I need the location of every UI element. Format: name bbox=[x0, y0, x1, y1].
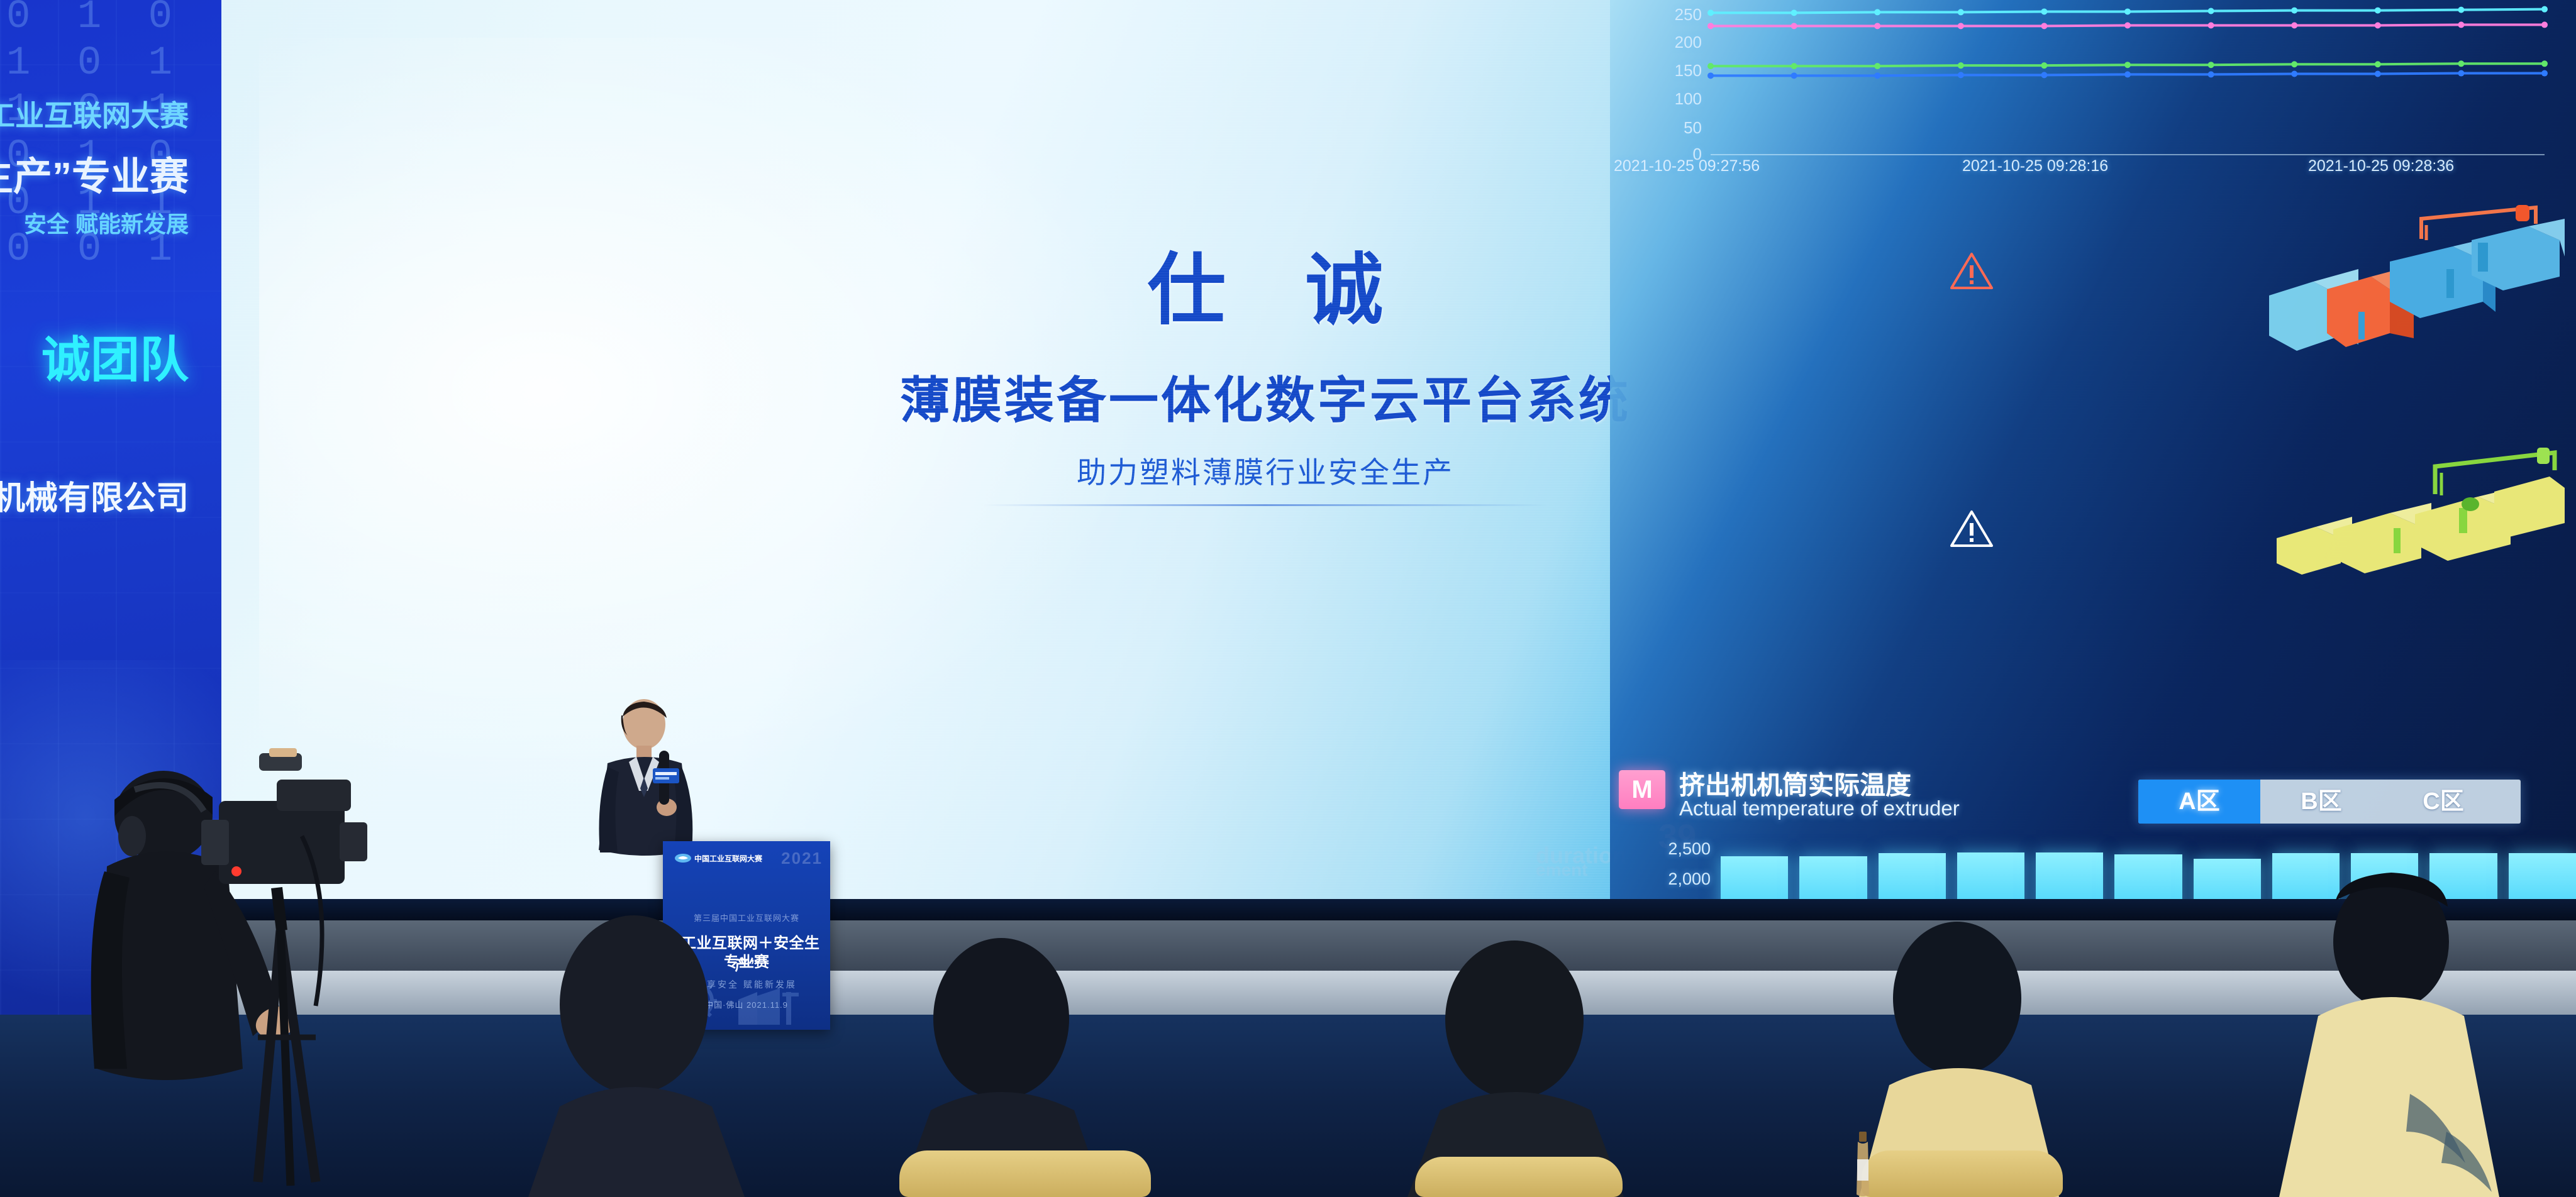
slide-subtitle: 助力塑料薄膜行业安全生产 bbox=[775, 448, 1756, 492]
slide-title-block: 仕 诚 薄膜装备一体化数字云平台系统 助力塑料薄膜行业安全生产 bbox=[775, 251, 1756, 506]
y-tick: 2,000 bbox=[1623, 869, 1711, 889]
slide-underline bbox=[982, 504, 1548, 506]
line-chart-x-axis: 2021-10-25 09:27:56 2021-10-25 09:28:16 … bbox=[1610, 157, 2576, 189]
zone-tab-group[interactable]: A区 B区 C区 bbox=[2138, 780, 2521, 824]
svg-text:中国工业互联网大赛: 中国工业互联网大赛 bbox=[694, 854, 763, 863]
zone-tab-overflow[interactable] bbox=[2504, 780, 2521, 824]
camera-operator bbox=[69, 742, 371, 1197]
backdrop-line-team: 诚团队 bbox=[0, 321, 189, 391]
floor bbox=[0, 1015, 2576, 1197]
extruder-title-en: Actual temperature of extruder bbox=[1679, 797, 1960, 820]
slide-main-title: 薄膜装备一体化数字云平台系统 bbox=[775, 360, 1756, 432]
slide-brand-name: 仕 诚 bbox=[775, 251, 1756, 329]
backdrop-line-company: 塑料机械有限公司 bbox=[0, 472, 189, 519]
warning-triangle-icon bbox=[1950, 251, 1994, 290]
x-tick: 2021-10-25 09:28:16 bbox=[1962, 157, 2108, 175]
rollup-year: 2021 bbox=[781, 849, 823, 868]
y-tick: 2,500 bbox=[1623, 839, 1711, 859]
extruder-3d-model-top bbox=[2264, 201, 2566, 365]
y-tick: 200 bbox=[1633, 33, 1702, 52]
chair bbox=[899, 1150, 1151, 1197]
y-tick: 250 bbox=[1633, 5, 1702, 25]
extruder-3d-model-bottom bbox=[2270, 434, 2566, 578]
line-chart-y-axis: 250 200 150 100 50 0 bbox=[1633, 0, 1702, 163]
chair bbox=[1415, 1157, 1623, 1197]
zone-tab-a[interactable]: A区 bbox=[2138, 780, 2260, 824]
metric-badge: M bbox=[1619, 770, 1665, 809]
water-bottle bbox=[1852, 1132, 1874, 1197]
line-chart-plot bbox=[1704, 0, 2557, 157]
extruder-title-cn: 挤出机机筒实际温度 bbox=[1679, 764, 1911, 802]
y-tick: 150 bbox=[1633, 61, 1702, 80]
audience-member bbox=[2258, 868, 2522, 1197]
ghost-label-ement: ement bbox=[1536, 860, 1587, 880]
y-tick: 50 bbox=[1633, 118, 1702, 138]
backdrop-line-category: ＋安全生产”专业赛 bbox=[0, 145, 189, 201]
audience-member bbox=[509, 899, 774, 1197]
extruder-temperature-header: M 挤出机机筒实际温度 Actual temperature of extrud… bbox=[1619, 764, 2185, 827]
zone-tab-c[interactable]: C区 bbox=[2382, 780, 2504, 824]
contest-logo-icon: 中国工业互联网大赛 bbox=[674, 851, 787, 865]
y-tick: 100 bbox=[1633, 89, 1702, 109]
x-tick: 2021-10-25 09:28:36 bbox=[2308, 157, 2454, 175]
warning-triangle-icon bbox=[1950, 509, 1994, 548]
backdrop-line-slogan: 安全 赋能新发展 bbox=[0, 206, 189, 239]
conference-scene: 0 1 0 1 0 1 1 0 1 0 1 0 0 1 1 0 0 1 中国工业… bbox=[0, 0, 2576, 1197]
line-chart: 250 200 150 100 50 0 2021-10-25 09:27:56… bbox=[1610, 0, 2576, 189]
chair bbox=[1862, 1150, 2063, 1197]
zone-tab-b[interactable]: B区 bbox=[2260, 780, 2382, 824]
x-tick: 2021-10-25 09:27:56 bbox=[1614, 157, 1760, 175]
backdrop-line-contest: 中国工业互联网大赛 bbox=[0, 93, 189, 135]
